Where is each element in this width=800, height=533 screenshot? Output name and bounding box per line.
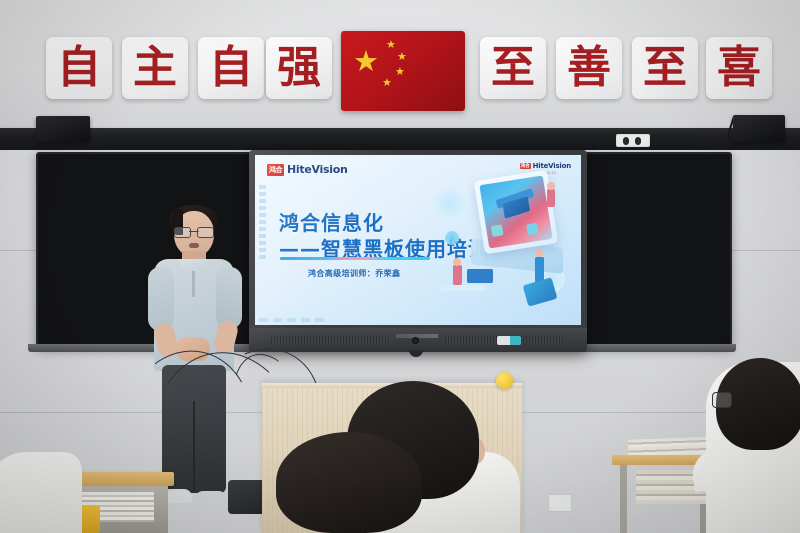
ir-sensor-icon xyxy=(412,337,419,344)
banner-card-3: 自 xyxy=(198,37,264,99)
glasses-icon xyxy=(712,392,732,408)
desk-right-leg xyxy=(620,465,627,533)
flag-star-small: ★ xyxy=(386,39,396,50)
glasses-icon xyxy=(174,227,214,236)
floor-socket[interactable] xyxy=(548,494,572,512)
banner-char: 自 xyxy=(57,46,101,90)
power-outlet[interactable] xyxy=(616,134,650,147)
flag-star-large: ★ xyxy=(353,47,379,76)
illustration-phone xyxy=(523,277,558,306)
banner-char: 至 xyxy=(491,46,535,90)
presenter-sleeve-right xyxy=(216,267,242,329)
speaker-grille-left xyxy=(271,336,391,344)
presenter-mouth xyxy=(189,243,199,248)
chinese-national-flag: ★ ★ ★ ★ ★ xyxy=(341,31,465,111)
slide-bottom-strip xyxy=(259,318,324,322)
flag-star-small: ★ xyxy=(397,51,407,62)
display-control-panel[interactable] xyxy=(497,336,521,345)
smart-blackboard[interactable]: 鸿合 HiteVision 鸿合 HiteVision HB2016-32 鸿合… xyxy=(249,150,587,352)
banner-char: 自 xyxy=(209,46,253,90)
wall-speaker-right xyxy=(733,115,785,142)
slide-subtitle: 鸿合高级培训师：乔荣鑫 xyxy=(308,268,400,279)
slide-toolbar-strip[interactable] xyxy=(257,181,268,315)
title-accent-underline xyxy=(280,257,430,260)
display-screen[interactable]: 鸿合 HiteVision 鸿合 HiteVision HB2016-32 鸿合… xyxy=(255,155,581,325)
banner-char: 主 xyxy=(133,46,177,90)
audience-member-left-edge xyxy=(0,452,82,533)
yellow-ball xyxy=(496,372,513,389)
banner-char: 至 xyxy=(643,46,687,90)
wall-ledge xyxy=(0,128,800,151)
banner-card-6: 善 xyxy=(556,37,622,99)
brand-wordmark: HiteVision xyxy=(287,163,348,176)
wall-speaker-left xyxy=(36,116,90,142)
flag-star-small: ★ xyxy=(395,66,405,77)
banner-card-2: 主 xyxy=(122,37,188,99)
illustration-tablet xyxy=(474,170,559,255)
classroom-photo: 自 主 自 强 ★ ★ ★ ★ ★ 至 善 至 喜 鸿合 HiteVision xyxy=(0,0,800,533)
banner-card-8: 喜 xyxy=(706,37,772,99)
banner-card-4: 强 xyxy=(266,37,332,99)
audience-member-front-left-head xyxy=(276,432,422,533)
banner-card-5: 至 xyxy=(480,37,546,99)
flag-star-small: ★ xyxy=(382,77,392,88)
banner-card-7: 至 xyxy=(632,37,698,99)
slide-illustration xyxy=(427,169,577,321)
banner-char: 强 xyxy=(277,46,321,90)
presenter-placket xyxy=(192,271,195,297)
display-bottom-bezel xyxy=(249,328,587,352)
banner-char: 喜 xyxy=(717,46,761,90)
banner-card-1: 自 xyxy=(46,37,112,99)
brand-logo: 鸿合 HiteVision xyxy=(267,163,348,176)
presentation-slide: 鸿合 HiteVision 鸿合 HiteVision HB2016-32 鸿合… xyxy=(255,155,581,325)
brand-cn-mark: 鸿合 xyxy=(267,164,284,176)
slide-title-line1: 鸿合信息化 xyxy=(279,207,384,236)
presenter-sleeve-left xyxy=(148,267,174,331)
banner-char: 善 xyxy=(567,46,611,90)
